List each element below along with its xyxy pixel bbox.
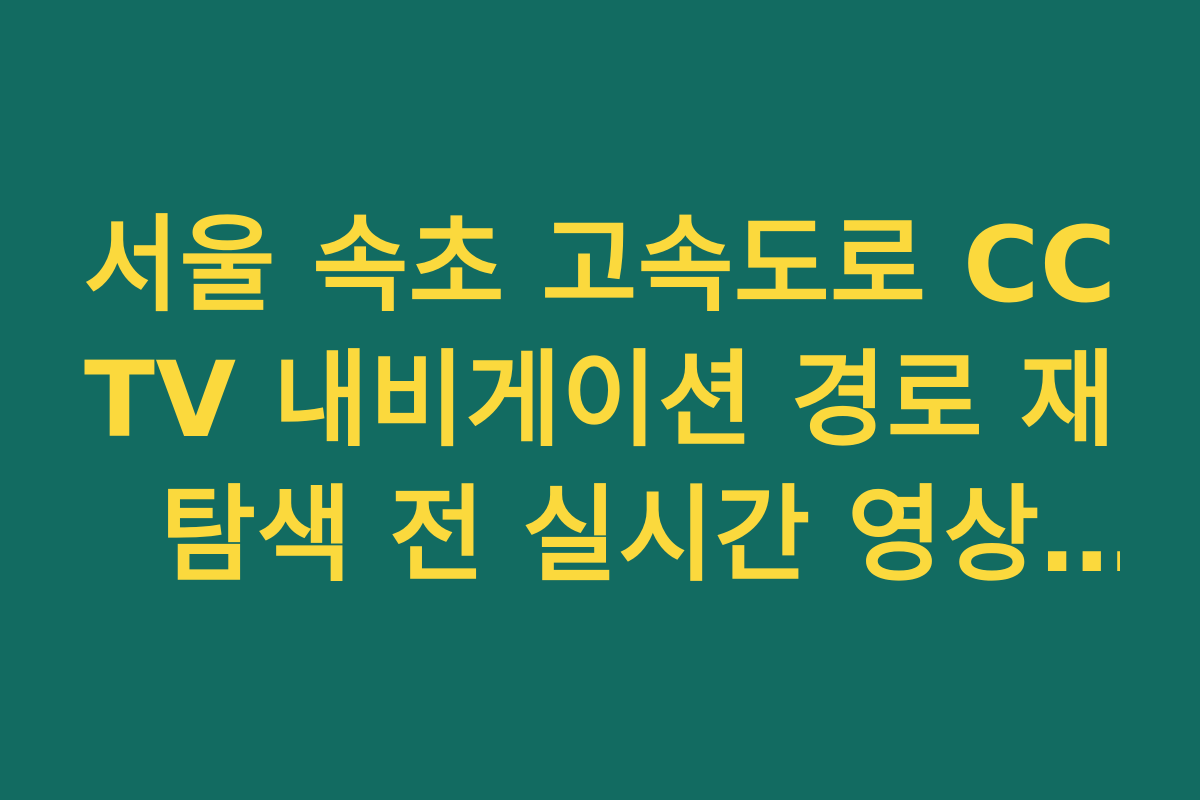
title-card: 서울 속초 고속도로 CCTV 내비게이션 경로 재탐색 전 실시간 영상 팩…	[0, 0, 1200, 800]
page-title: 서울 속초 고속도로 CCTV 내비게이션 경로 재탐색 전 실시간 영상 팩…	[80, 198, 1120, 603]
title-block: 서울 속초 고속도로 CCTV 내비게이션 경로 재탐색 전 실시간 영상 팩…	[80, 198, 1120, 603]
